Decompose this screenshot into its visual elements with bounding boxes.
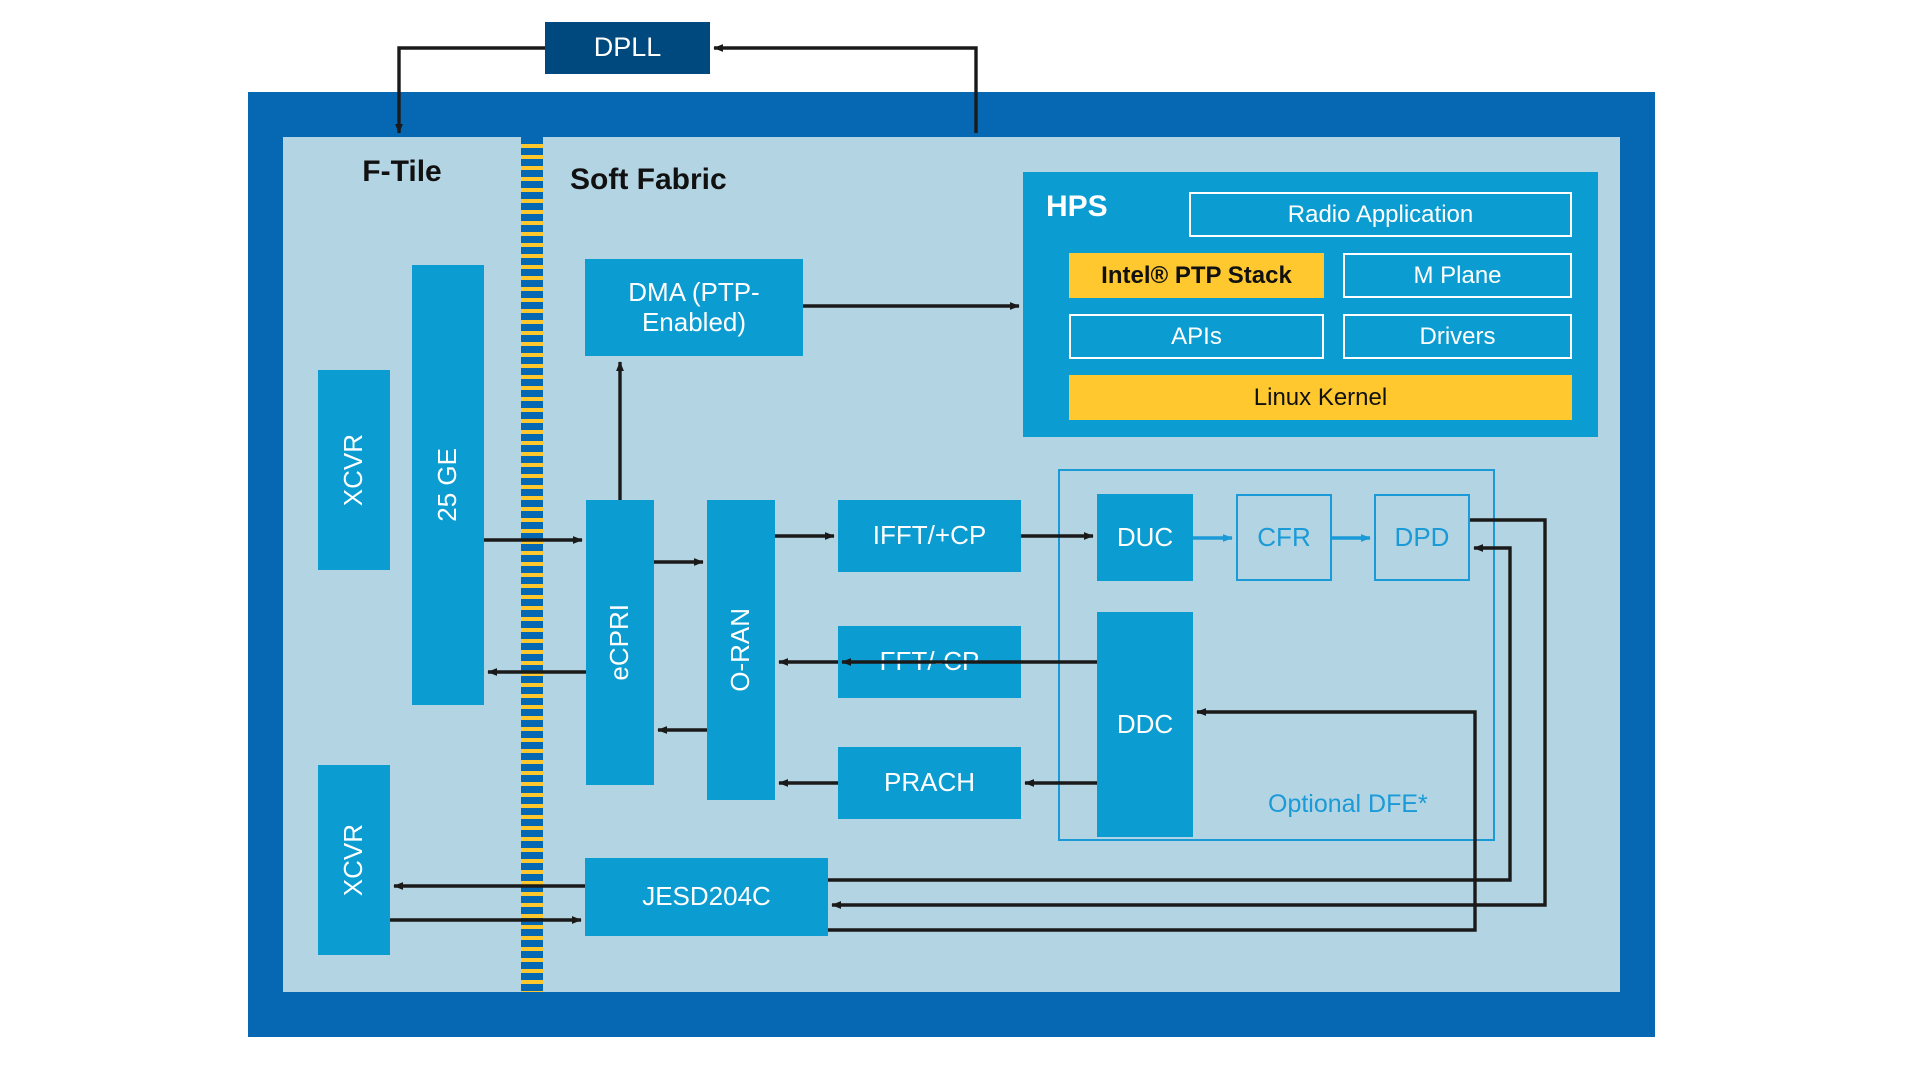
xcvr-top-label: XCVR xyxy=(339,434,369,506)
ecpri-label: eCPRI xyxy=(605,604,635,681)
ddc-block[interactable]: DDC xyxy=(1097,612,1193,837)
diagram-canvas: DPLL F-Tile XCVR 25 GE XCVR Soft Fabric … xyxy=(0,0,1920,1080)
eth-mac-block[interactable]: 25 GE xyxy=(412,265,484,705)
prach-block[interactable]: PRACH xyxy=(838,747,1021,819)
ftile-label: F-Tile xyxy=(283,155,521,189)
hps-m-plane[interactable]: M Plane xyxy=(1343,253,1572,298)
hps-apis[interactable]: APIs xyxy=(1069,314,1324,359)
xcvr-top-block[interactable]: XCVR xyxy=(318,370,390,570)
eth-mac-label: 25 GE xyxy=(433,448,463,522)
duc-block[interactable]: DUC xyxy=(1097,494,1193,581)
hps-linux-kernel[interactable]: Linux Kernel xyxy=(1069,375,1572,420)
hps-label: HPS xyxy=(1046,190,1108,224)
jesd204c-block[interactable]: JESD204C xyxy=(585,858,828,936)
oran-block[interactable]: O-RAN xyxy=(707,500,775,800)
hps-drivers[interactable]: Drivers xyxy=(1343,314,1572,359)
ifft-block[interactable]: IFFT/+CP xyxy=(838,500,1021,572)
hps-ptp-stack[interactable]: Intel® PTP Stack xyxy=(1069,253,1324,298)
hps-radio-application[interactable]: Radio Application xyxy=(1189,192,1572,237)
dpd-block[interactable]: DPD xyxy=(1374,494,1470,581)
cfr-block[interactable]: CFR xyxy=(1236,494,1332,581)
ecpri-block[interactable]: eCPRI xyxy=(586,500,654,785)
soft-fabric-label: Soft Fabric xyxy=(570,163,727,197)
dpll-block[interactable]: DPLL xyxy=(545,22,710,74)
oran-label: O-RAN xyxy=(726,608,756,692)
dma-block[interactable]: DMA (PTP-Enabled) xyxy=(585,259,803,356)
xcvr-bottom-block[interactable]: XCVR xyxy=(318,765,390,955)
optional-dfe-label: Optional DFE* xyxy=(1268,790,1428,819)
xcvr-bottom-label: XCVR xyxy=(339,824,369,896)
fabric-interface-stripes xyxy=(521,137,543,992)
fft-block[interactable]: FFT/-CP xyxy=(838,626,1021,698)
